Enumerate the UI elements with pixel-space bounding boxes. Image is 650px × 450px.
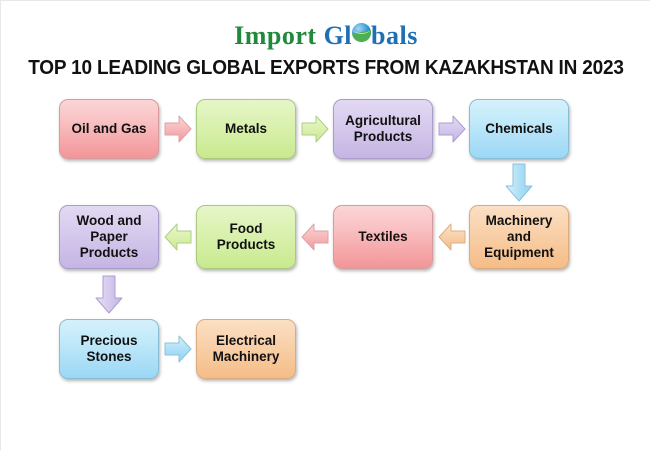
node-metals[interactable]: Metals <box>196 99 296 159</box>
node-agricultural-products[interactable]: Agricultural Products <box>333 99 433 159</box>
connector-chemicals-to-machinery-and-equipment <box>504 163 534 203</box>
node-textiles[interactable]: Textiles <box>333 205 433 269</box>
node-oil-and-gas[interactable]: Oil and Gas <box>59 99 159 159</box>
connector-wood-and-paper-products-to-precious-stones <box>94 275 124 315</box>
connector-food-products-to-wood-and-paper-products <box>164 222 192 252</box>
globe-icon <box>352 23 371 42</box>
node-label: Electrical Machinery <box>201 333 291 365</box>
node-food-products[interactable]: Food Products <box>196 205 296 269</box>
connector-agricultural-products-to-chemicals <box>438 114 466 144</box>
node-label: Metals <box>225 121 267 137</box>
node-label: Precious Stones <box>64 333 154 365</box>
node-machinery-and-equipment[interactable]: Machinery and Equipment <box>469 205 569 269</box>
logo-text-bals: bals <box>371 21 418 50</box>
connector-precious-stones-to-electrical-machinery <box>164 334 192 364</box>
node-wood-and-paper-products[interactable]: Wood and Paper Products <box>59 205 159 269</box>
node-label: Wood and Paper Products <box>64 213 154 261</box>
node-electrical-machinery[interactable]: Electrical Machinery <box>196 319 296 379</box>
node-label: Machinery and Equipment <box>474 213 564 261</box>
logo-text-gl: Gl <box>324 21 352 50</box>
import-globals-logo: Import Glbals <box>1 19 650 53</box>
export-flowchart-page: Import Glbals TOP 10 LEADING GLOBAL EXPO… <box>0 0 650 450</box>
node-chemicals[interactable]: Chemicals <box>469 99 569 159</box>
connector-machinery-and-equipment-to-textiles <box>438 222 466 252</box>
connector-textiles-to-food-products <box>301 222 329 252</box>
node-label: Textiles <box>358 229 407 245</box>
node-label: Food Products <box>201 221 291 253</box>
logo-text-import: Import <box>234 21 316 50</box>
node-label: Chemicals <box>485 121 553 137</box>
node-label: Oil and Gas <box>71 121 146 137</box>
node-label: Agricultural Products <box>338 113 428 145</box>
connector-metals-to-agricultural-products <box>301 114 329 144</box>
node-precious-stones[interactable]: Precious Stones <box>59 319 159 379</box>
connector-oil-and-gas-to-metals <box>164 114 192 144</box>
page-title: TOP 10 LEADING GLOBAL EXPORTS FROM KAZAK… <box>17 57 635 80</box>
